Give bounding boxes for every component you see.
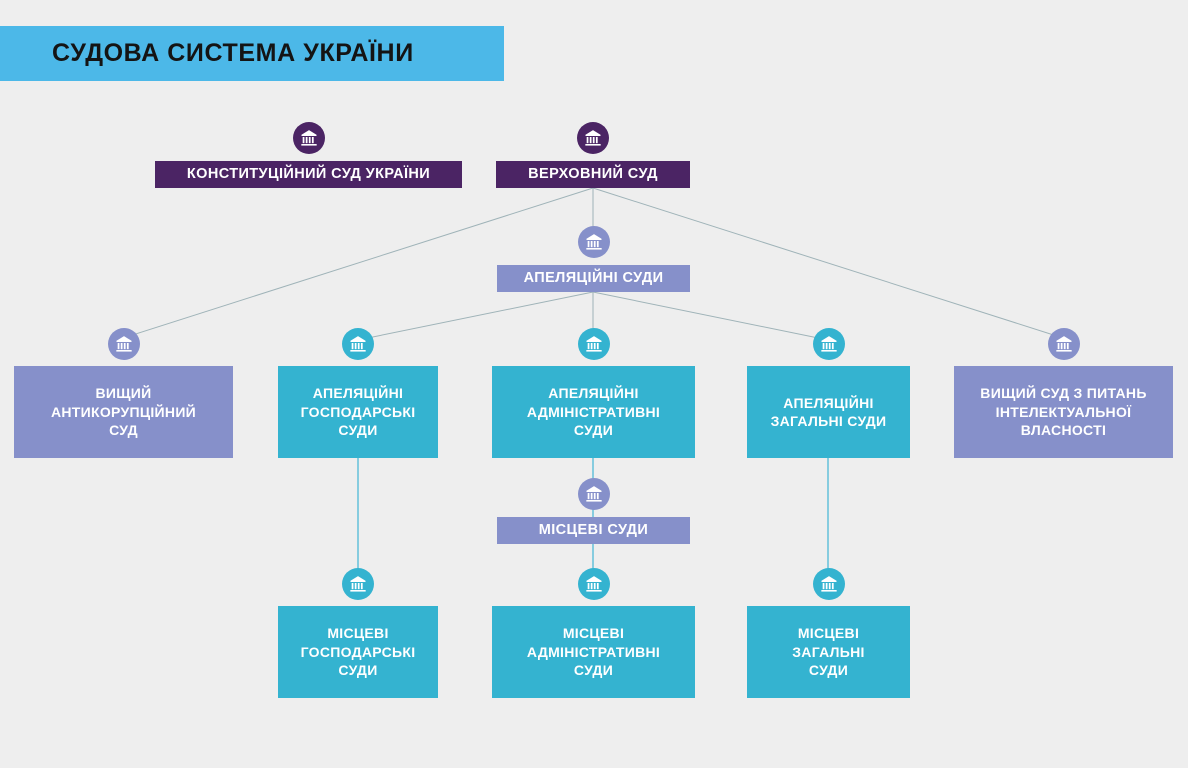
court-node-label-local-economic-courts: МІСЦЕВІ ГОСПОДАРСЬКІ СУДИ: [278, 606, 438, 698]
edge-supreme-to-intellectual: [593, 188, 1063, 338]
bank-courthouse-icon: [293, 122, 325, 154]
bank-courthouse-icon: [108, 328, 140, 360]
court-node-label-constitutional-court: КОНСТИТУЦІЙНИЙ СУД УКРАЇНИ: [155, 161, 462, 188]
bank-courthouse-icon: [813, 568, 845, 600]
court-node-label-appellate-administrative-courts: АПЕЛЯЦІЙНІ АДМІНІСТРАТИВНІ СУДИ: [492, 366, 695, 458]
bank-courthouse-icon: [342, 328, 374, 360]
court-node-label-high-intellectual-property-court: ВИЩИЙ СУД З ПИТАНЬ ІНТЕЛЕКТУАЛЬНОЇ ВЛАСН…: [954, 366, 1173, 458]
bank-courthouse-icon: [578, 226, 610, 258]
edge-appellate-to-economic: [358, 292, 593, 340]
diagram-canvas: СУДОВА СИСТЕМА УКРАЇНИ КОНСТИТУЦІЙНИЙ СУ…: [0, 0, 1188, 768]
bank-courthouse-icon: [578, 568, 610, 600]
court-node-label-appellate-courts: АПЕЛЯЦІЙНІ СУДИ: [497, 265, 690, 292]
court-node-label-appellate-economic-courts: АПЕЛЯЦІЙНІ ГОСПОДАРСЬКІ СУДИ: [278, 366, 438, 458]
court-node-label-high-anticorruption-court: ВИЩИЙ АНТИКОРУПЦІЙНИЙ СУД: [14, 366, 233, 458]
bank-courthouse-icon: [578, 328, 610, 360]
court-node-label-supreme-court: ВЕРХОВНИЙ СУД: [496, 161, 690, 188]
bank-courthouse-icon: [577, 122, 609, 154]
court-node-label-appellate-general-courts: АПЕЛЯЦІЙНІ ЗАГАЛЬНІ СУДИ: [747, 366, 910, 458]
bank-courthouse-icon: [578, 478, 610, 510]
edge-appellate-to-general: [593, 292, 828, 340]
court-node-label-local-general-courts: МІСЦЕВІ ЗАГАЛЬНІ СУДИ: [747, 606, 910, 698]
page-title: СУДОВА СИСТЕМА УКРАЇНИ: [52, 39, 414, 68]
bank-courthouse-icon: [342, 568, 374, 600]
court-node-label-local-courts: МІСЦЕВІ СУДИ: [497, 517, 690, 544]
bank-courthouse-icon: [1048, 328, 1080, 360]
page-title-banner: СУДОВА СИСТЕМА УКРАЇНИ: [0, 26, 504, 81]
court-node-label-local-administrative-courts: МІСЦЕВІ АДМІНІСТРАТИВНІ СУДИ: [492, 606, 695, 698]
bank-courthouse-icon: [813, 328, 845, 360]
edge-supreme-to-anticorruption: [123, 188, 593, 338]
